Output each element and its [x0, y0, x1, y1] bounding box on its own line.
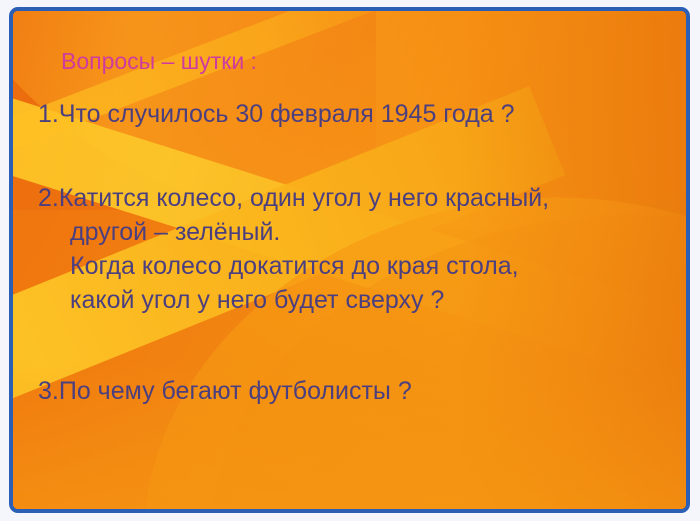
slide-frame: Вопросы – шутки : 1.Что случилось 30 фев… — [9, 7, 690, 513]
question-2-line-2: другой – зелёный. — [38, 215, 668, 249]
question-item-3: 3.По чему бегают футболисты ? — [38, 374, 668, 408]
slide-content: Вопросы – шутки : 1.Что случилось 30 фев… — [13, 11, 686, 509]
question-2-line-4: какой угол у него будет сверху ? — [38, 283, 668, 317]
question-3-line-1: 3.По чему бегают футболисты ? — [38, 374, 668, 408]
slide-title: Вопросы – шутки : — [61, 49, 257, 74]
question-1-line-1: 1.Что случилось 30 февраля 1945 года ? — [38, 97, 668, 131]
question-2-line-3: Когда колесо докатится до края стола, — [38, 249, 668, 283]
question-item-2: 2.Катится колесо, один угол у него красн… — [38, 181, 668, 317]
question-2-line-1: 2.Катится колесо, один угол у него красн… — [38, 181, 668, 215]
question-item-1: 1.Что случилось 30 февраля 1945 года ? — [38, 97, 668, 131]
